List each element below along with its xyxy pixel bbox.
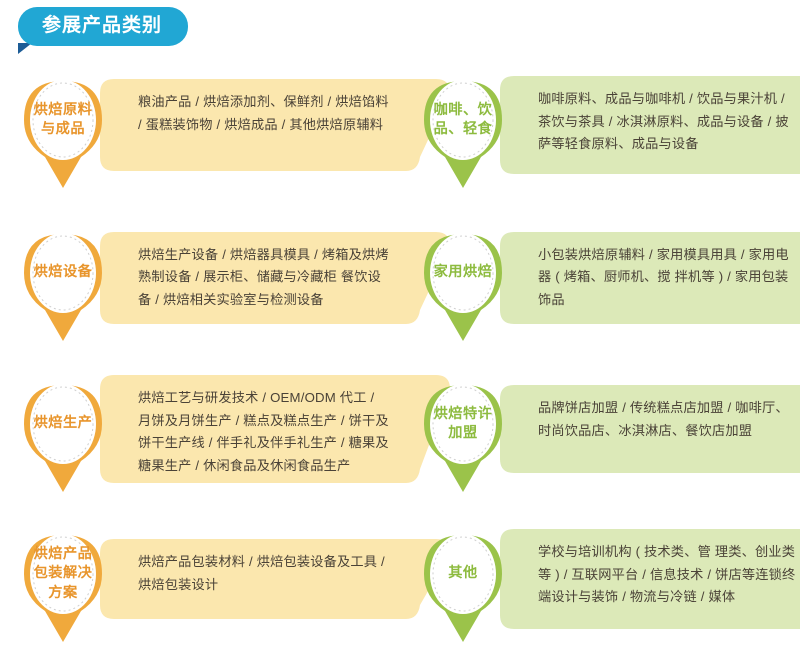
category-card-packaging-solutions[interactable]: 烘焙产品包装材料 / 烘焙包装设备及工具 / 烘焙包装设计烘焙产品包装解决方案 <box>14 513 394 663</box>
category-row: 烘焙生产设备 / 烘焙器具模具 / 烤箱及烘烤熟制设备 / 展示柜、储藏与冷藏柜… <box>0 210 800 363</box>
category-pin-marker[interactable]: 烘焙设备 <box>14 224 112 350</box>
category-description: 粮油产品 / 烘焙添加剂、保鲜剂 / 烘焙馅料 / 蛋糕装饰物 / 烘焙成品 /… <box>138 91 390 136</box>
category-description-panel: 烘焙生产设备 / 烘焙器具模具 / 烤箱及烘烤熟制设备 / 展示柜、储藏与冷藏柜… <box>100 232 450 324</box>
category-description-panel: 学校与培训机构 ( 技术类、管 理类、创业类等 ) / 互联网平台 / 信息技术… <box>500 529 800 629</box>
pin-inner-circle <box>430 534 496 614</box>
pin-inner-circle <box>30 80 96 160</box>
category-description-panel: 品牌饼店加盟 / 传统糕点店加盟 / 咖啡厅、时尚饮品店、冰淇淋店、餐饮店加盟 <box>500 385 800 473</box>
category-description: 烘焙产品包装材料 / 烘焙包装设备及工具 / 烘焙包装设计 <box>138 551 390 596</box>
category-card-baking-production[interactable]: 烘焙工艺与研发技术 / OEM/ODM 代工 / 月饼及月饼生产 / 糕点及糕点… <box>14 363 394 513</box>
category-description: 小包装烘焙原辅料 / 家用模具用具 / 家用电器 ( 烤箱、厨师机、搅 拌机等 … <box>538 244 800 312</box>
category-card-others[interactable]: 学校与培训机构 ( 技术类、管 理类、创业类等 ) / 互联网平台 / 信息技术… <box>414 513 794 663</box>
category-row: 烘焙工艺与研发技术 / OEM/ODM 代工 / 月饼及月饼生产 / 糕点及糕点… <box>0 363 800 513</box>
category-pin-marker[interactable]: 烘焙原料与成品 <box>14 71 112 197</box>
category-description: 烘焙生产设备 / 烘焙器具模具 / 烤箱及烘烤熟制设备 / 展示柜、储藏与冷藏柜… <box>138 244 390 312</box>
page-header: 参展产品类别 <box>18 7 188 46</box>
category-row: 粮油产品 / 烘焙添加剂、保鲜剂 / 烘焙馅料 / 蛋糕装饰物 / 烘焙成品 /… <box>0 58 800 210</box>
pin-inner-circle <box>430 80 496 160</box>
category-pin-marker[interactable]: 其他 <box>414 525 512 651</box>
category-description: 咖啡原料、成品与咖啡机 / 饮品与果汁机 / 茶饮与茶具 / 冰淇淋原料、成品与… <box>538 88 800 156</box>
category-row: 烘焙产品包装材料 / 烘焙包装设备及工具 / 烘焙包装设计烘焙产品包装解决方案学… <box>0 513 800 663</box>
category-description: 烘焙工艺与研发技术 / OEM/ODM 代工 / 月饼及月饼生产 / 糕点及糕点… <box>138 387 390 478</box>
category-card-home-baking[interactable]: 小包装烘焙原辅料 / 家用模具用具 / 家用电器 ( 烤箱、厨师机、搅 拌机等 … <box>414 210 794 363</box>
category-description-panel: 烘焙工艺与研发技术 / OEM/ODM 代工 / 月饼及月饼生产 / 糕点及糕点… <box>100 375 450 483</box>
category-description-panel: 粮油产品 / 烘焙添加剂、保鲜剂 / 烘焙馅料 / 蛋糕装饰物 / 烘焙成品 /… <box>100 79 450 171</box>
category-pin-marker[interactable]: 家用烘焙 <box>414 224 512 350</box>
category-description: 学校与培训机构 ( 技术类、管 理类、创业类等 ) / 互联网平台 / 信息技术… <box>538 541 800 609</box>
pin-inner-circle <box>430 233 496 313</box>
pin-inner-circle <box>430 384 496 464</box>
category-card-baking-ingredients[interactable]: 粮油产品 / 烘焙添加剂、保鲜剂 / 烘焙馅料 / 蛋糕装饰物 / 烘焙成品 /… <box>14 58 394 210</box>
category-pin-marker[interactable]: 烘焙特许加盟 <box>414 375 512 501</box>
page-title: 参展产品类别 <box>18 7 188 46</box>
pin-inner-circle <box>30 384 96 464</box>
category-pin-marker[interactable]: 烘焙产品包装解决方案 <box>14 525 112 651</box>
category-pin-marker[interactable]: 咖啡、饮品、轻食 <box>414 71 512 197</box>
category-pin-marker[interactable]: 烘焙生产 <box>14 375 112 501</box>
category-card-baking-equipment[interactable]: 烘焙生产设备 / 烘焙器具模具 / 烤箱及烘烤熟制设备 / 展示柜、储藏与冷藏柜… <box>14 210 394 363</box>
category-card-baking-franchise[interactable]: 品牌饼店加盟 / 传统糕点店加盟 / 咖啡厅、时尚饮品店、冰淇淋店、餐饮店加盟烘… <box>414 363 794 513</box>
category-card-coffee-beverage-snack[interactable]: 咖啡原料、成品与咖啡机 / 饮品与果汁机 / 茶饮与茶具 / 冰淇淋原料、成品与… <box>414 58 794 210</box>
category-description-panel: 烘焙产品包装材料 / 烘焙包装设备及工具 / 烘焙包装设计 <box>100 539 450 619</box>
category-description: 品牌饼店加盟 / 传统糕点店加盟 / 咖啡厅、时尚饮品店、冰淇淋店、餐饮店加盟 <box>538 397 800 442</box>
category-description-panel: 小包装烘焙原辅料 / 家用模具用具 / 家用电器 ( 烤箱、厨师机、搅 拌机等 … <box>500 232 800 324</box>
category-description-panel: 咖啡原料、成品与咖啡机 / 饮品与果汁机 / 茶饮与茶具 / 冰淇淋原料、成品与… <box>500 76 800 174</box>
pin-inner-circle <box>30 534 96 614</box>
pin-inner-circle <box>30 233 96 313</box>
